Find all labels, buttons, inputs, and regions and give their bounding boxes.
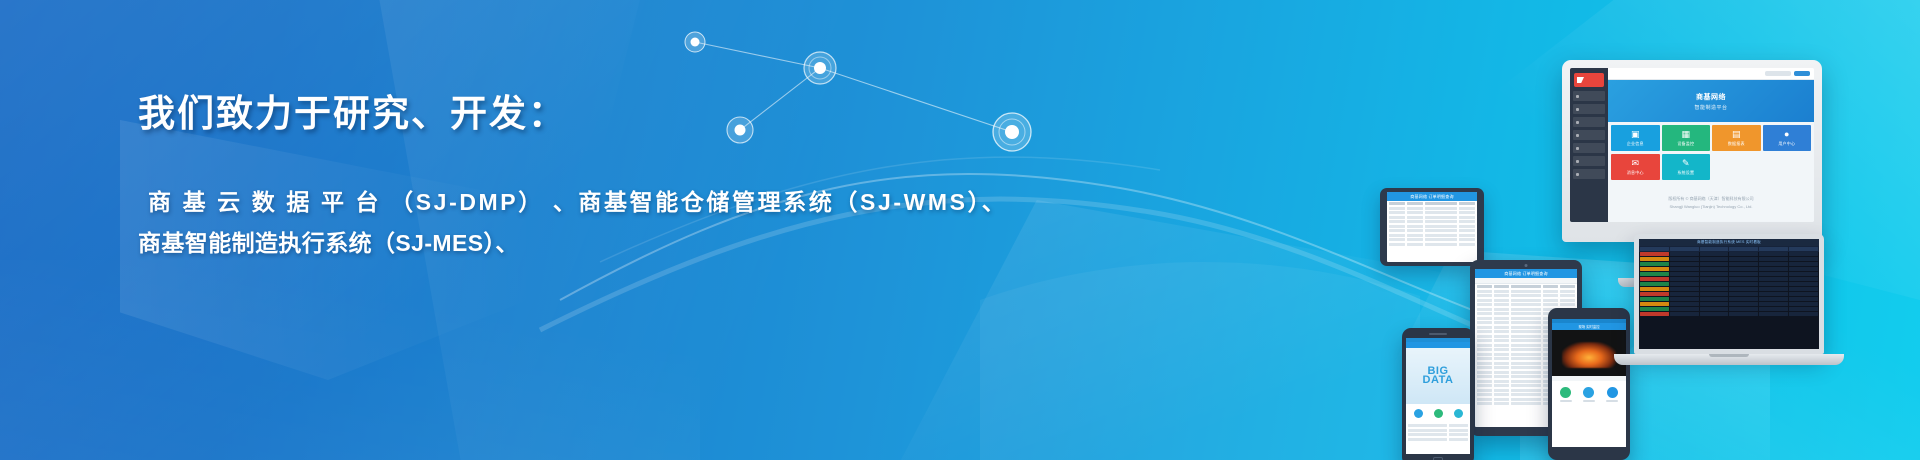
- app-tile[interactable]: ✎ 系统设置: [1662, 154, 1711, 180]
- laptop-app-title: 商基智能制造执行系统 MES 实时看板: [1639, 239, 1819, 246]
- bigdata-wordmark: BIG DATA: [1423, 367, 1454, 385]
- tablet-landscape-screen: 商基网络 订单明细查询: [1387, 192, 1477, 262]
- action-label: [1560, 400, 1572, 402]
- list-item: [1408, 438, 1468, 441]
- app-topbar: [1608, 68, 1814, 80]
- table-row: [1389, 202, 1475, 205]
- mail-icon: ✉: [1631, 159, 1639, 168]
- laptop-screen: 商基智能制造执行系统 MES 实时看板: [1639, 239, 1819, 349]
- sidebar-item[interactable]: [1573, 117, 1605, 127]
- app-tile[interactable]: ▣ 企业信息: [1611, 125, 1660, 151]
- app-shortcut-icon[interactable]: [1454, 409, 1463, 418]
- network-node: [685, 32, 705, 52]
- monitor-icon: ▣: [1631, 130, 1640, 139]
- promo-banner: 我们致力于研究、开发： 商 基 云 数 据 平 台 （SJ-DMP） 、商基智能…: [0, 0, 1920, 460]
- pencil-icon: ✎: [1682, 159, 1690, 168]
- app-logo-icon: [1574, 73, 1604, 87]
- device-mockup-cluster: 商基网络 智能制造平台 ▣ 企业信息 ▦ 设备监控: [1362, 38, 1862, 458]
- app-shortcut-icon[interactable]: [1434, 409, 1443, 418]
- alert-icon: [1560, 387, 1571, 398]
- user-icon: ●: [1784, 130, 1789, 139]
- app-tile[interactable]: ● 用户中心: [1763, 125, 1812, 151]
- network-node: [804, 52, 836, 84]
- action-item[interactable]: [1560, 387, 1572, 402]
- imac-body: 商基网络 智能制造平台 ▣ 企业信息 ▦ 设备监控: [1562, 60, 1822, 242]
- table-row: [1477, 294, 1575, 297]
- camera-icon: [1525, 264, 1528, 267]
- table-row: [1477, 303, 1575, 306]
- app-hero-title: 商基网络: [1696, 92, 1726, 102]
- table-row: [1389, 211, 1475, 214]
- app-tile[interactable]: ▤ 数据报表: [1712, 125, 1761, 151]
- app-tile-label: 企业信息: [1627, 141, 1644, 147]
- action-label: [1606, 400, 1618, 402]
- analytics-icon: [1607, 387, 1618, 398]
- phone-screen-left: BIG DATA: [1406, 338, 1470, 454]
- background-shard: [880, 200, 1440, 460]
- phone-list: [1406, 423, 1470, 443]
- table-row: [1389, 220, 1475, 223]
- banner-subline-list: 商 基 云 数 据 平 台 （SJ-DMP） 、商基智能仓储管理系统（SJ-WM…: [138, 182, 958, 263]
- app-shortcut-icon[interactable]: [1414, 409, 1423, 418]
- banner-headline: 我们致力于研究、开发：: [138, 92, 958, 136]
- app-tile-label: 设备监控: [1677, 141, 1694, 147]
- speaker-icon: [1429, 333, 1447, 335]
- chart-icon: ▤: [1732, 130, 1741, 139]
- action-item[interactable]: [1583, 387, 1595, 402]
- app-sidebar[interactable]: [1570, 68, 1608, 222]
- app-main: 商基网络 智能制造平台 ▣ 企业信息 ▦ 设备监控: [1608, 68, 1814, 222]
- sidebar-item[interactable]: [1573, 104, 1605, 114]
- phone-icon-row[interactable]: [1406, 404, 1470, 423]
- laptop-notch: [1709, 354, 1749, 357]
- app-tile-grid-row2: ✉ 消息中心 ✎ 系统设置: [1608, 154, 1814, 183]
- banner-copy: 我们致力于研究、开发： 商 基 云 数 据 平 台 （SJ-DMP） 、商基智能…: [138, 92, 958, 263]
- sidebar-item[interactable]: [1573, 91, 1605, 101]
- imac-screen: 商基网络 智能制造平台 ▣ 企业信息 ▦ 设备监控: [1570, 68, 1814, 222]
- table-row: [1477, 290, 1575, 293]
- sidebar-item[interactable]: [1573, 169, 1605, 179]
- table-row: [1639, 312, 1819, 317]
- table-header-row: [1477, 285, 1575, 288]
- sidebar-item[interactable]: [1573, 143, 1605, 153]
- phone-action-row[interactable]: [1552, 381, 1626, 404]
- list-item: [1408, 433, 1468, 436]
- action-label: [1583, 400, 1595, 402]
- laptop-lid: 商基智能制造执行系统 MES 实时看板: [1634, 234, 1824, 354]
- footer-company-en: Shangji Wangluo (Tianjin) Technology Co.…: [1669, 204, 1752, 209]
- table-row: [1389, 225, 1475, 228]
- table-row: [1477, 299, 1575, 302]
- table-row: [1389, 238, 1475, 241]
- banner-subline-2: 商基智能制造执行系统（SJ-MES）、: [138, 223, 958, 263]
- flame-visual: [1562, 342, 1616, 368]
- app-tile-grid-row1: ▣ 企业信息 ▦ 设备监控 ▤ 数据报表: [1608, 122, 1814, 154]
- app-tile[interactable]: ▦ 设备监控: [1662, 125, 1711, 151]
- app-tile-label: 用户中心: [1778, 141, 1795, 147]
- home-button[interactable]: [1794, 71, 1810, 76]
- laptop-base: [1614, 354, 1844, 365]
- app-hero-subtitle: 智能制造平台: [1694, 104, 1727, 111]
- phone-mockup-left: BIG DATA: [1402, 328, 1474, 460]
- list-item: [1408, 429, 1468, 432]
- table-row: [1389, 234, 1475, 237]
- account-chip[interactable]: [1765, 71, 1791, 76]
- action-item[interactable]: [1606, 387, 1618, 402]
- app-hero: 商基网络 智能制造平台: [1608, 80, 1814, 122]
- tablet-table: [1387, 201, 1477, 248]
- table-row: [1389, 229, 1475, 232]
- table-row: [1389, 243, 1475, 246]
- network-node: [993, 113, 1031, 151]
- table-row: [1389, 207, 1475, 210]
- list-item: [1408, 424, 1468, 427]
- laptop-mockup: 商基智能制造执行系统 MES 实时看板: [1614, 234, 1844, 365]
- background-shard: [0, 260, 700, 460]
- tablet-app-title: 商基网络 订单明细查询: [1387, 192, 1477, 201]
- app-tile-label: 数据报表: [1728, 141, 1745, 147]
- app-tile-label: 系统设置: [1677, 170, 1694, 176]
- app-tile[interactable]: ✉ 消息中心: [1611, 154, 1660, 180]
- app-tile-label: 消息中心: [1627, 170, 1644, 176]
- sidebar-item[interactable]: [1573, 156, 1605, 166]
- table-row: [1389, 216, 1475, 219]
- phone-hero: BIG DATA: [1406, 348, 1470, 404]
- tablet-app-title: 商基网络 订单明细查询: [1475, 269, 1577, 278]
- tablet-landscape-mockup: 商基网络 订单明细查询: [1380, 188, 1484, 266]
- app-footer: 版权所有 © 商基网络（天津）智能科技有限公司 Shangji Wangluo …: [1608, 183, 1814, 222]
- status-icon: [1583, 387, 1594, 398]
- sidebar-item[interactable]: [1573, 130, 1605, 140]
- grid-icon: ▦: [1681, 130, 1690, 139]
- banner-subline-1: 商 基 云 数 据 平 台 （SJ-DMP） 、商基智能仓储管理系统（SJ-WM…: [138, 182, 958, 222]
- footer-copyright: 版权所有 © 商基网络（天津）智能科技有限公司: [1668, 196, 1753, 202]
